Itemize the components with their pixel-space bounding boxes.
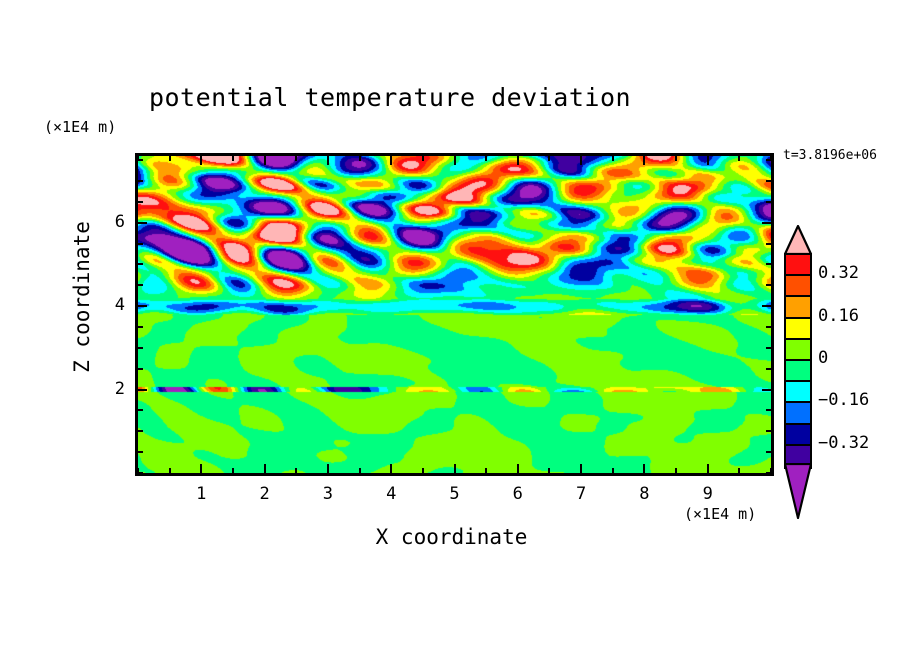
y-tick-minor — [138, 472, 143, 474]
y-tick-minor — [138, 263, 143, 265]
colorbar-tick-label: 0 — [818, 348, 828, 368]
y-axis-title: Z coordinate — [70, 197, 94, 397]
x-tick-major-top — [580, 156, 582, 165]
y-tick-major-right — [762, 389, 771, 391]
y-tick-minor — [138, 451, 143, 453]
x-tick-minor-top — [675, 156, 677, 161]
colorbar-tick-label: −0.32 — [818, 433, 869, 453]
x-tick-minor — [359, 468, 361, 473]
y-tick-label: 2 — [95, 379, 125, 399]
y-tick-minor-right — [766, 263, 771, 265]
colorbar-tick-label: −0.16 — [818, 390, 869, 410]
x-tick-minor — [295, 468, 297, 473]
x-tick-major — [200, 464, 202, 473]
x-tick-label: 9 — [693, 484, 723, 504]
y-tick-minor — [138, 326, 143, 328]
y-tick-minor-right — [766, 347, 771, 349]
y-tick-major-right — [762, 305, 771, 307]
x-tick-minor-top — [738, 156, 740, 161]
colorbar-under-cap-icon — [784, 463, 812, 519]
x-tick-minor — [232, 468, 234, 473]
x-tick-major — [643, 464, 645, 473]
x-tick-minor — [548, 468, 550, 473]
x-tick-label: 3 — [313, 484, 343, 504]
x-tick-minor-top — [612, 156, 614, 161]
x-tick-minor-top — [485, 156, 487, 161]
x-tick-major-top — [390, 156, 392, 165]
x-tick-minor — [169, 468, 171, 473]
x-tick-label: 7 — [566, 484, 596, 504]
y-tick-minor-right — [766, 284, 771, 286]
y-tick-minor — [138, 284, 143, 286]
colorbar-band — [786, 403, 810, 424]
x-tick-major — [264, 464, 266, 473]
x-tick-major — [390, 464, 392, 473]
y-tick-minor — [138, 368, 143, 370]
x-axis-title: X coordinate — [135, 525, 768, 549]
figure-canvas: potential temperature deviation (×1E4 m)… — [0, 0, 904, 654]
x-tick-minor-top — [169, 156, 171, 161]
y-tick-minor-right — [766, 451, 771, 453]
x-tick-major-top — [707, 156, 709, 165]
y-tick-label: 4 — [95, 295, 125, 315]
x-tick-minor — [612, 468, 614, 473]
x-tick-major-top — [264, 156, 266, 165]
colorbar-band — [786, 255, 810, 276]
x-tick-major — [517, 464, 519, 473]
x-tick-major-top — [200, 156, 202, 165]
x-tick-major — [707, 464, 709, 473]
y-tick-minor-right — [766, 430, 771, 432]
x-tick-major-top — [454, 156, 456, 165]
x-tick-label: 1 — [186, 484, 216, 504]
y-tick-minor-right — [766, 368, 771, 370]
y-tick-major-right — [762, 222, 771, 224]
x-tick-label: 6 — [503, 484, 533, 504]
y-tick-minor-right — [766, 159, 771, 161]
contour-field — [138, 156, 771, 473]
colorbar-band — [786, 340, 810, 361]
time-stamp-annotation: t=3.8196e+06 — [783, 148, 877, 163]
colorbar-band — [786, 382, 810, 403]
y-tick-major — [138, 222, 147, 224]
y-tick-minor — [138, 409, 143, 411]
x-tick-major — [327, 464, 329, 473]
x-tick-minor — [738, 468, 740, 473]
y-tick-minor-right — [766, 180, 771, 182]
x-tick-minor-top — [295, 156, 297, 161]
y-tick-major — [138, 389, 147, 391]
x-tick-minor-top — [548, 156, 550, 161]
x-tick-label: 4 — [376, 484, 406, 504]
page-title: potential temperature deviation — [0, 83, 780, 112]
colorbar-tick-label: 0.32 — [818, 263, 859, 283]
y-tick-minor-right — [766, 472, 771, 474]
y-tick-minor — [138, 430, 143, 432]
x-tick-minor — [422, 468, 424, 473]
y-tick-minor — [138, 180, 143, 182]
x-tick-major — [454, 464, 456, 473]
colorbar-band — [786, 319, 810, 340]
y-tick-minor — [138, 243, 143, 245]
x-tick-label: 2 — [250, 484, 280, 504]
x-tick-minor-top — [359, 156, 361, 161]
x-tick-minor-top — [422, 156, 424, 161]
colorbar-tick-label: 0.16 — [818, 306, 859, 326]
colorbar[interactable] — [784, 253, 812, 469]
x-tick-minor — [485, 468, 487, 473]
y-tick-minor-right — [766, 326, 771, 328]
colorbar-over-cap-icon — [784, 225, 812, 255]
y-tick-minor — [138, 159, 143, 161]
colorbar-band — [786, 361, 810, 382]
y-tick-major — [138, 305, 147, 307]
y-tick-minor-right — [766, 409, 771, 411]
y-tick-minor — [138, 347, 143, 349]
colorbar-band — [786, 297, 810, 318]
x-tick-minor — [675, 468, 677, 473]
y-tick-label: 6 — [95, 212, 125, 232]
colorbar-band — [786, 276, 810, 297]
y-axis-units-label: (×1E4 m) — [44, 118, 116, 136]
y-tick-minor-right — [766, 201, 771, 203]
x-tick-label: 8 — [629, 484, 659, 504]
y-tick-minor-right — [766, 243, 771, 245]
x-tick-major — [580, 464, 582, 473]
x-tick-major-top — [643, 156, 645, 165]
colorbar-band — [786, 425, 810, 446]
y-tick-minor — [138, 201, 143, 203]
x-tick-major-top — [327, 156, 329, 165]
plot-area — [135, 153, 774, 476]
x-tick-major-top — [517, 156, 519, 165]
x-tick-label: 5 — [440, 484, 470, 504]
x-tick-minor-top — [232, 156, 234, 161]
x-axis-units-label: (×1E4 m) — [684, 505, 756, 523]
